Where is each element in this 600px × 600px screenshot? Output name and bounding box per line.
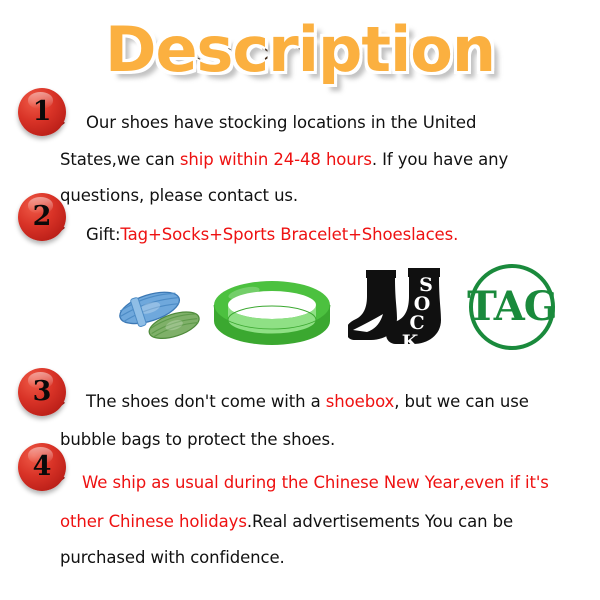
gift-product-row: S O C K TAG <box>0 255 600 360</box>
step-badge-4: 4 <box>18 443 66 491</box>
badge-number: 4 <box>18 443 66 491</box>
item1-line1: Our shoes have stocking locations in the… <box>86 113 476 132</box>
gift-contents-highlight: Tag+Socks+Sports Bracelet+Shoeslaces. <box>120 225 458 244</box>
item1-line3: questions, please contact us. <box>60 186 298 205</box>
badge-number: 1 <box>18 88 66 136</box>
item1-line2: States,we can ship within 24-48 hours. I… <box>60 150 508 169</box>
bracelet-image <box>208 275 336 353</box>
item1-line1-text: Our shoes have stocking locations in the… <box>86 113 476 132</box>
item2-gift-line: Gift:Tag+Socks+Sports Bracelet+Shoeslace… <box>86 225 458 244</box>
socks-image: S O C K <box>348 260 460 358</box>
chinese-holidays-highlight: other Chinese holidays <box>60 512 247 531</box>
item4-line2: other Chinese holidays.Real advertisemen… <box>60 512 513 531</box>
svg-text:TAG: TAG <box>467 283 557 330</box>
item1-line2-prefix: States,we can <box>60 150 180 169</box>
item1-line2-suffix: . If you have any <box>372 150 508 169</box>
shoelaces-icon <box>108 275 212 353</box>
bracelet-icon <box>208 275 336 353</box>
item4-line1-text: We ship as usual during the Chinese New … <box>82 473 549 492</box>
step-badge-3: 3 <box>18 368 66 416</box>
item3-line1-prefix: The shoes don't come with a <box>86 392 326 411</box>
item3-line2-text: bubble bags to protect the shoes. <box>60 430 335 449</box>
shipping-time-highlight: ship within 24-48 hours <box>180 150 372 169</box>
tag-image: TAG <box>462 260 562 355</box>
item4-line2-suffix: .Real advertisements You can be <box>247 512 513 531</box>
socks-icon: S O C K <box>348 260 460 358</box>
item3-line1-suffix: , but we can use <box>394 392 529 411</box>
badge-number: 3 <box>18 368 66 416</box>
step-badge-1: 1 <box>18 88 66 136</box>
badge-number: 2 <box>18 193 66 241</box>
item3-line1: The shoes don't come with a shoebox, but… <box>86 392 529 411</box>
page-title-text: Description <box>105 13 495 86</box>
tag-icon: TAG <box>462 260 562 355</box>
item4-line3-text: purchased with confidence. <box>60 548 285 567</box>
svg-text:K: K <box>402 331 420 353</box>
item3-line2: bubble bags to protect the shoes. <box>60 430 335 449</box>
page-title: Description <box>0 8 600 90</box>
item1-line3-text: questions, please contact us. <box>60 186 298 205</box>
shoelaces-image <box>108 275 212 353</box>
step-badge-2: 2 <box>18 193 66 241</box>
shoebox-highlight: shoebox <box>326 392 394 411</box>
gift-label: Gift: <box>86 225 120 244</box>
item4-line1: We ship as usual during the Chinese New … <box>82 473 549 492</box>
item4-line3: purchased with confidence. <box>60 548 285 567</box>
